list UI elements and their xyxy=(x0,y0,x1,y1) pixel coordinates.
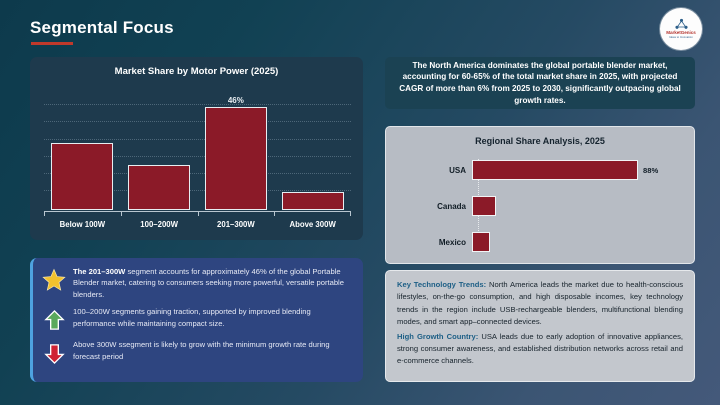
regional-row-mexico: Mexico xyxy=(386,231,686,253)
bar-100-200w[interactable] xyxy=(128,165,190,210)
bar-group: 46% xyxy=(44,87,351,210)
bar-value-label: 46% xyxy=(202,96,270,105)
north-america-summary-text: The North America dominates the global p… xyxy=(397,60,683,106)
high-growth-country-paragraph: High Growth Country: USA leads due to ea… xyxy=(397,331,683,368)
axis-tick xyxy=(198,212,199,216)
regional-chart-title: Regional Share Analysis, 2025 xyxy=(386,136,694,146)
segment-insights-card: The 201–300W segment accounts for approx… xyxy=(30,258,363,382)
chart-plot-area: 46% xyxy=(44,87,351,210)
regional-row-usa: USA 88% xyxy=(386,159,686,181)
regional-plot-area: USA 88% Canada Mexico xyxy=(386,155,694,251)
insight-item: The 201–300W segment accounts for approx… xyxy=(33,258,363,300)
insight-rest: 100–200W segments gaining traction, supp… xyxy=(73,307,311,327)
north-america-summary-banner: The North America dominates the global p… xyxy=(385,57,695,109)
regional-row-canada: Canada xyxy=(386,195,686,217)
insight-rest: Above 300W ssegment is likely to grow wi… xyxy=(73,340,330,360)
title-underline-accent xyxy=(31,42,73,45)
bar-slot xyxy=(279,87,347,210)
axis-tick xyxy=(44,212,45,216)
logo-tagline: Ideas to Innovation xyxy=(669,37,693,40)
region-label-mexico: Mexico xyxy=(386,238,472,247)
hbar-canada[interactable] xyxy=(472,196,496,216)
insight-text: The 201–300W segment accounts for approx… xyxy=(73,266,351,300)
arrow-down-icon xyxy=(41,340,67,366)
bar-201-300w[interactable] xyxy=(205,107,267,210)
insight-text: 100–200W segments gaining traction, supp… xyxy=(73,306,351,329)
region-label-canada: Canada xyxy=(386,202,472,211)
x-label-201-300w: 201–300W xyxy=(202,220,270,229)
star-icon xyxy=(41,267,67,293)
insight-item: 100–200W segments gaining traction, supp… xyxy=(33,300,363,333)
bar-slot: 46% xyxy=(202,87,270,210)
motor-power-chart-card: Market Share by Motor Power (2025) 46% xyxy=(30,57,363,240)
x-label-below-100w: Below 100W xyxy=(49,220,117,229)
chart-title: Market Share by Motor Power (2025) xyxy=(30,66,363,77)
insight-text: Above 300W ssegment is likely to grow wi… xyxy=(73,339,351,362)
bar-above-300w[interactable] xyxy=(282,192,344,210)
arrow-up-icon xyxy=(41,307,67,333)
brand-logo: MarketGenics Ideas to Innovation xyxy=(660,8,702,50)
bar-slot xyxy=(49,87,117,210)
insight-bold: The 201–300W xyxy=(73,267,125,276)
slide-canvas: Segmental Focus MarketGenics Ideas to In… xyxy=(0,0,720,405)
axis-tick xyxy=(274,212,275,216)
region-label-usa: USA xyxy=(386,166,472,175)
high-growth-country-lead: High Growth Country: xyxy=(397,332,478,341)
bar-slot xyxy=(125,87,193,210)
regional-share-chart-card: Regional Share Analysis, 2025 USA 88% Ca… xyxy=(385,126,695,264)
key-technology-trends-lead: Key Technology Trends: xyxy=(397,280,486,289)
x-axis-labels: Below 100W 100–200W 201–300W Above 300W xyxy=(44,220,351,229)
axis-tick xyxy=(350,212,351,216)
network-nodes-icon xyxy=(674,18,689,30)
hbar-usa[interactable] xyxy=(472,160,638,180)
key-technology-trends-paragraph: Key Technology Trends: North America lea… xyxy=(397,279,683,329)
page-title: Segmental Focus xyxy=(30,18,174,38)
hbar-mexico[interactable] xyxy=(472,232,490,252)
insight-item: Above 300W ssegment is likely to grow wi… xyxy=(33,333,363,366)
hbar-value-usa: 88% xyxy=(643,166,658,175)
x-label-100-200w: 100–200W xyxy=(125,220,193,229)
x-label-above-300w: Above 300W xyxy=(279,220,347,229)
bar-below-100w[interactable] xyxy=(51,143,113,210)
x-axis-line xyxy=(44,211,351,212)
axis-tick xyxy=(121,212,122,216)
technology-trends-card: Key Technology Trends: North America lea… xyxy=(385,270,695,382)
